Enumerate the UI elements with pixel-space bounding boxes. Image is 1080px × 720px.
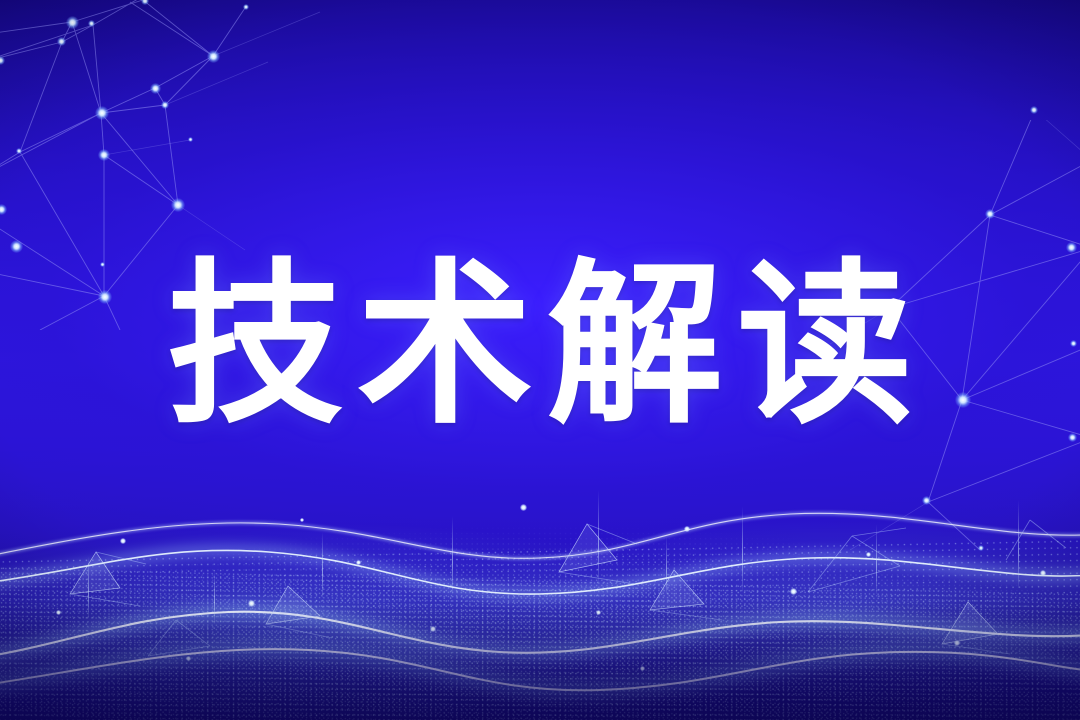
particle-spark — [300, 518, 304, 522]
light-filament — [452, 516, 453, 594]
particle-spark — [356, 560, 361, 565]
light-filament — [214, 570, 215, 624]
particle-spark — [954, 640, 960, 646]
network-node — [57, 37, 66, 46]
light-filament — [666, 536, 667, 594]
network-node — [1030, 106, 1038, 114]
light-filament — [88, 556, 89, 618]
particle-spark — [120, 538, 126, 544]
network-node — [171, 198, 185, 212]
light-filament — [598, 490, 599, 582]
network-node — [141, 0, 149, 5]
particle-mesh-front — [0, 566, 1080, 720]
network-node — [0, 56, 5, 65]
particle-spark — [1040, 570, 1046, 576]
network-node — [0, 204, 7, 215]
light-filament — [742, 506, 743, 590]
particle-wave-landscape — [0, 460, 1080, 720]
network-node — [150, 83, 161, 94]
particle-spark — [866, 552, 871, 557]
particle-spark — [248, 600, 255, 607]
network-node — [243, 4, 249, 10]
network-node — [66, 16, 79, 29]
particle-spark — [56, 610, 61, 615]
particle-spark — [430, 626, 436, 632]
page-title: 技术解读 — [153, 258, 927, 434]
network-node — [98, 149, 110, 161]
network-node — [207, 50, 220, 63]
light-filament — [322, 532, 323, 598]
particle-spark — [640, 666, 645, 671]
particle-spark — [596, 610, 601, 615]
network-node — [88, 20, 95, 27]
network-node — [985, 209, 995, 219]
network-node — [188, 137, 193, 142]
light-filament — [876, 524, 877, 594]
network-node — [16, 148, 22, 154]
particle-spark — [520, 504, 527, 511]
network-node — [95, 106, 109, 120]
banner-canvas: 技术解读 — [0, 0, 1080, 720]
particle-spark — [684, 526, 690, 532]
particle-spark — [186, 656, 191, 661]
title-block: 技术解读 — [0, 246, 1080, 446]
particle-spark — [790, 588, 797, 595]
light-filament — [1018, 500, 1019, 588]
network-node — [161, 101, 169, 109]
